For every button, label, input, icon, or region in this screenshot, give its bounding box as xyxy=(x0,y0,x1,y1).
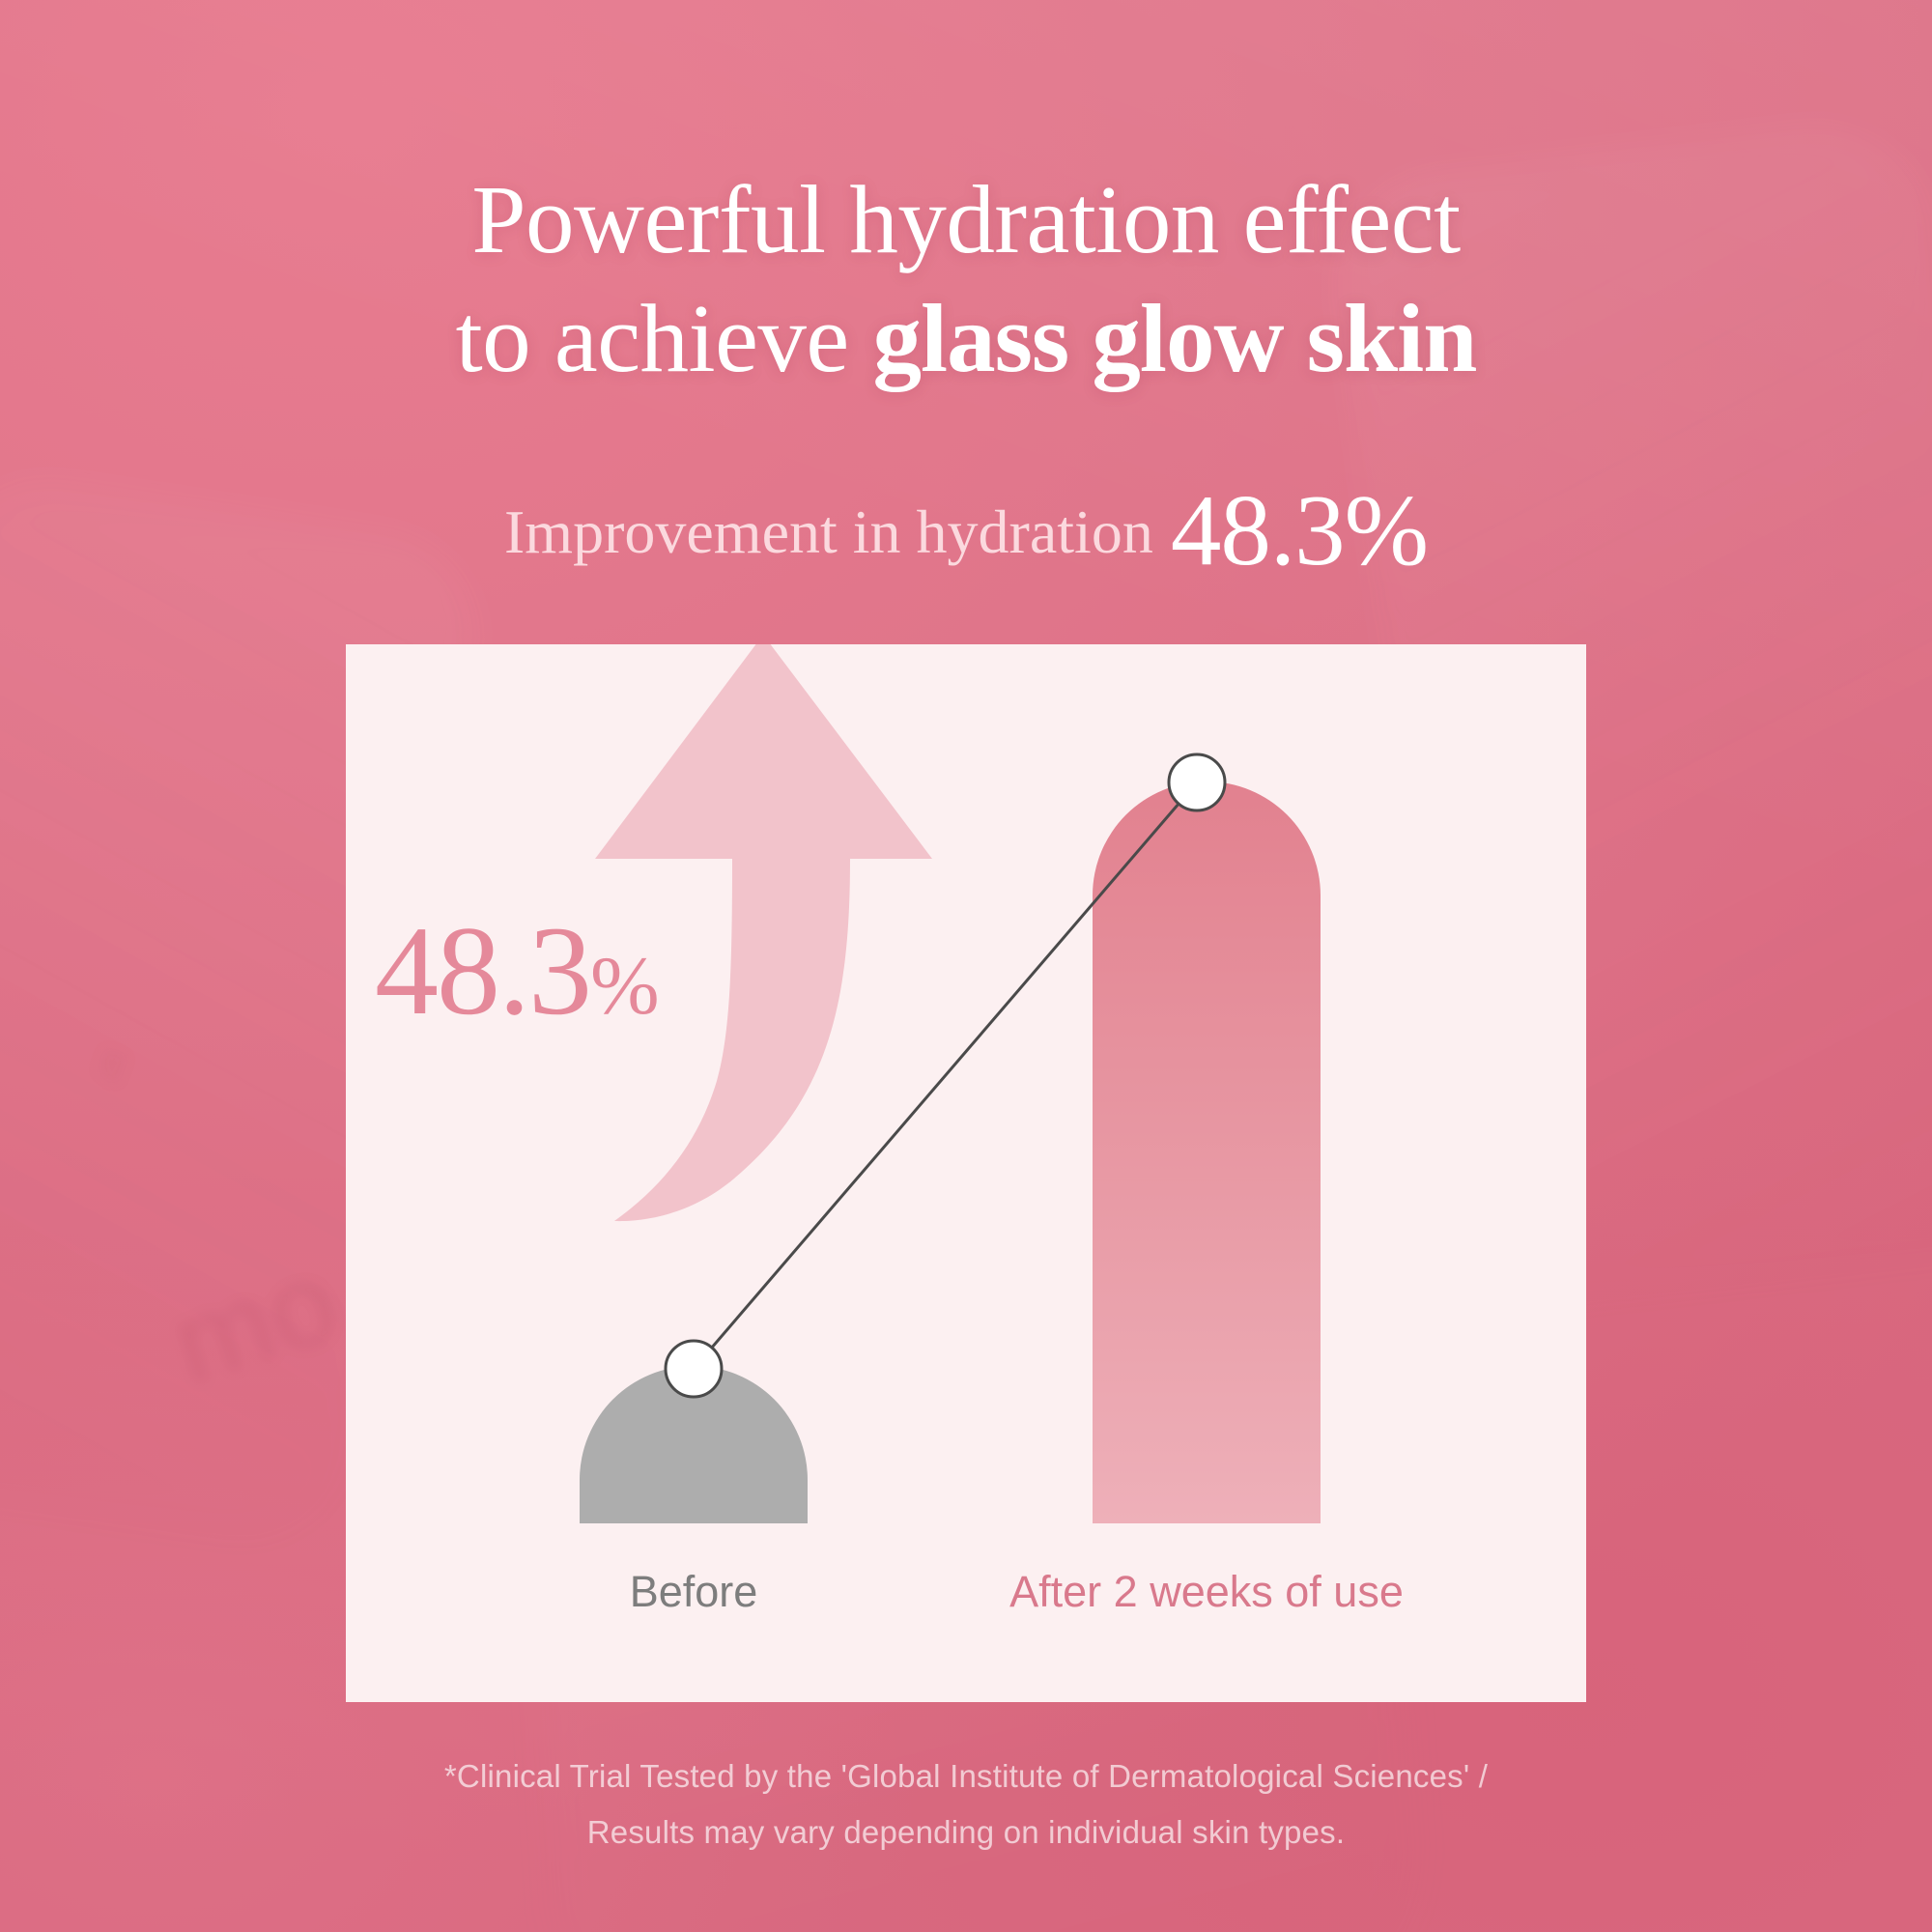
footnote: *Clinical Trial Tested by the 'Global In… xyxy=(0,1748,1932,1861)
subheadline-value: 48.3% xyxy=(1171,473,1428,586)
headline-line-2-prefix: to achieve xyxy=(456,284,873,392)
headline-line-1: Powerful hydration effect xyxy=(0,160,1932,279)
headline-line-2: to achieve glass glow skin xyxy=(0,279,1932,398)
x-label-after: After 2 weeks of use xyxy=(983,1567,1430,1617)
footnote-line-1: *Clinical Trial Tested by the 'Global In… xyxy=(0,1748,1932,1804)
trend-connector xyxy=(346,644,1586,1702)
marker-after xyxy=(1169,754,1225,810)
marker-before xyxy=(666,1341,722,1397)
x-label-before: Before xyxy=(580,1567,808,1617)
promo-graphic: be IDE mo ill Powerful hydration effect … xyxy=(0,0,1932,1932)
headline: Powerful hydration effect to achieve gla… xyxy=(0,160,1932,398)
chart-card: 48.3% Before After 2 weeks of use xyxy=(346,644,1586,1702)
headline-line-2-emphasis: glass glow skin xyxy=(873,284,1477,392)
subheadline-label: Improvement in hydration xyxy=(504,497,1153,566)
subheadline: Improvement in hydration48.3% xyxy=(0,471,1932,588)
footnote-line-2: Results may vary depending on individual… xyxy=(0,1804,1932,1861)
